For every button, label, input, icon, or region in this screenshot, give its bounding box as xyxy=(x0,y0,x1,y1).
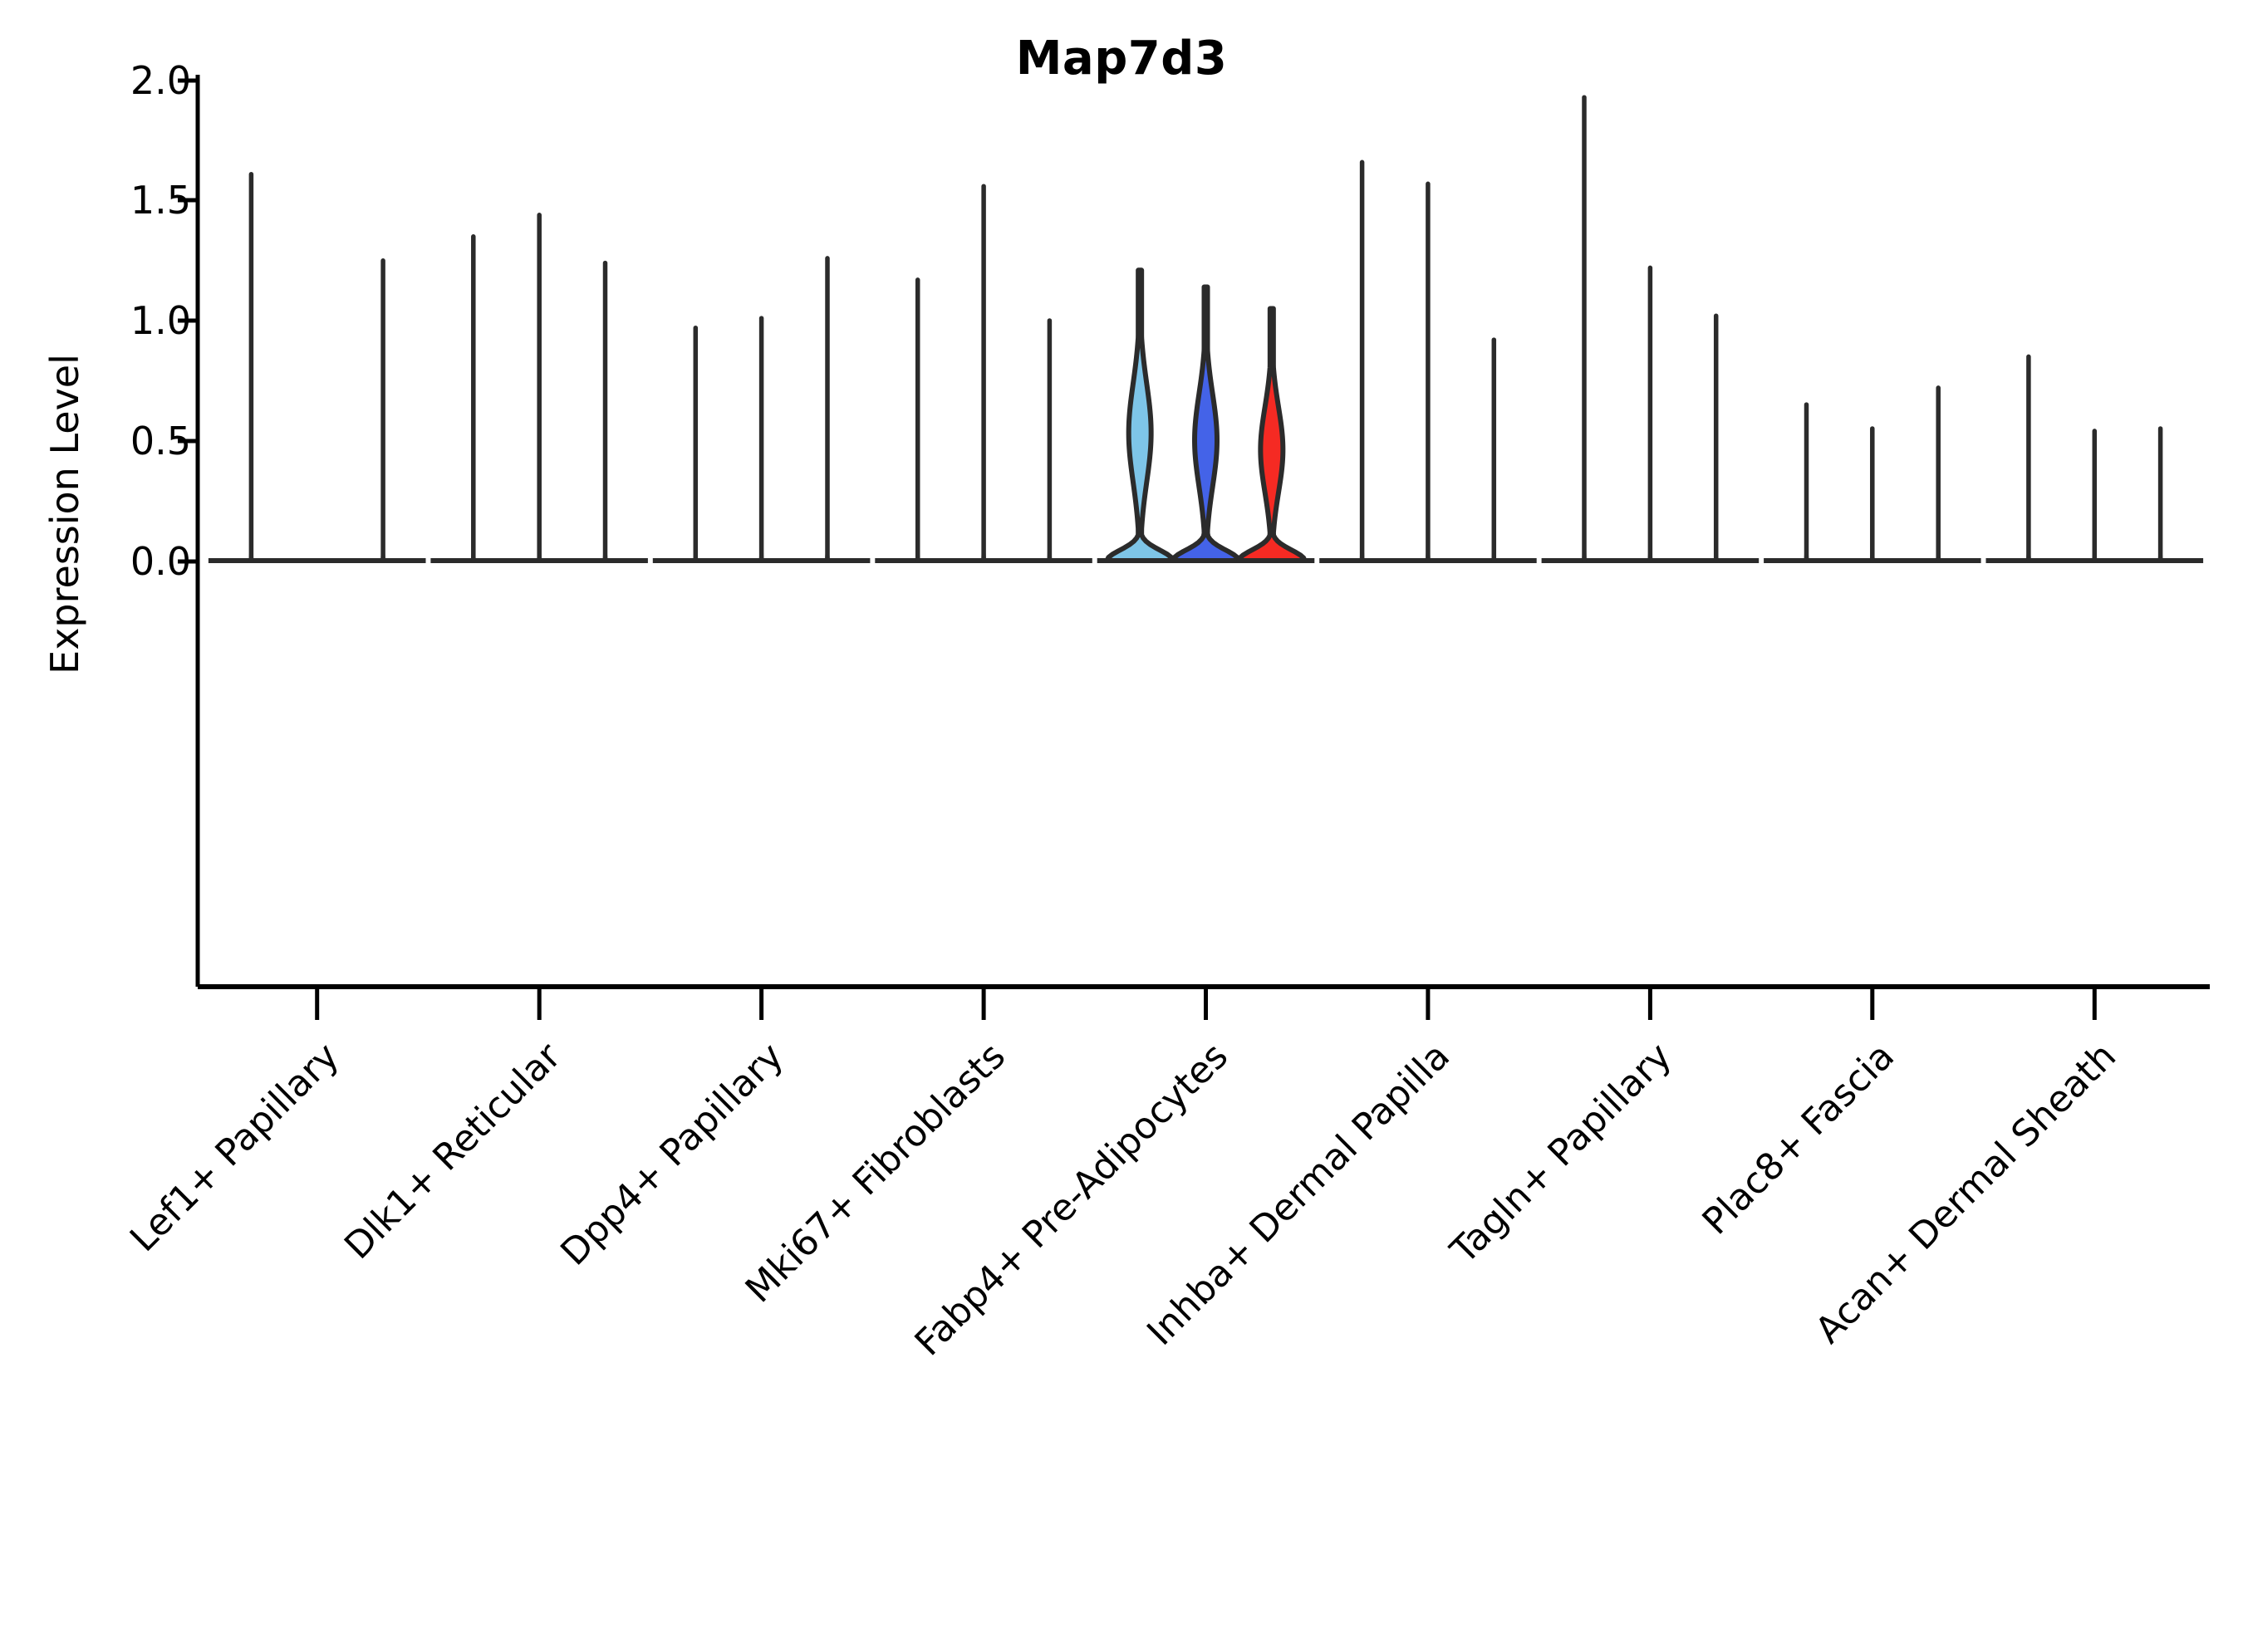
axis-spines xyxy=(178,75,2210,987)
violin-group[interactable] xyxy=(875,186,1092,561)
violin-shape[interactable] xyxy=(1107,270,1172,561)
violin-group[interactable] xyxy=(1097,270,1315,561)
violin-group[interactable] xyxy=(1764,388,1981,561)
x-axis-tick-layer xyxy=(317,987,2095,1020)
violin-shape[interactable] xyxy=(1239,309,1304,561)
violin-group[interactable] xyxy=(1319,162,1537,561)
violin-group[interactable] xyxy=(1986,356,2204,561)
violin-shape[interactable] xyxy=(1173,287,1239,561)
violin-group[interactable] xyxy=(430,215,648,561)
plot-canvas xyxy=(0,0,2243,1495)
violin-group[interactable] xyxy=(653,258,871,561)
violin-plot-figure: Map7d3 Expression Level 2.0 1.5 1.0 0.5 … xyxy=(0,0,2243,1495)
violin-group[interactable] xyxy=(1542,97,1760,561)
violin-group[interactable] xyxy=(209,174,426,561)
violin-group-layer xyxy=(209,97,2203,561)
